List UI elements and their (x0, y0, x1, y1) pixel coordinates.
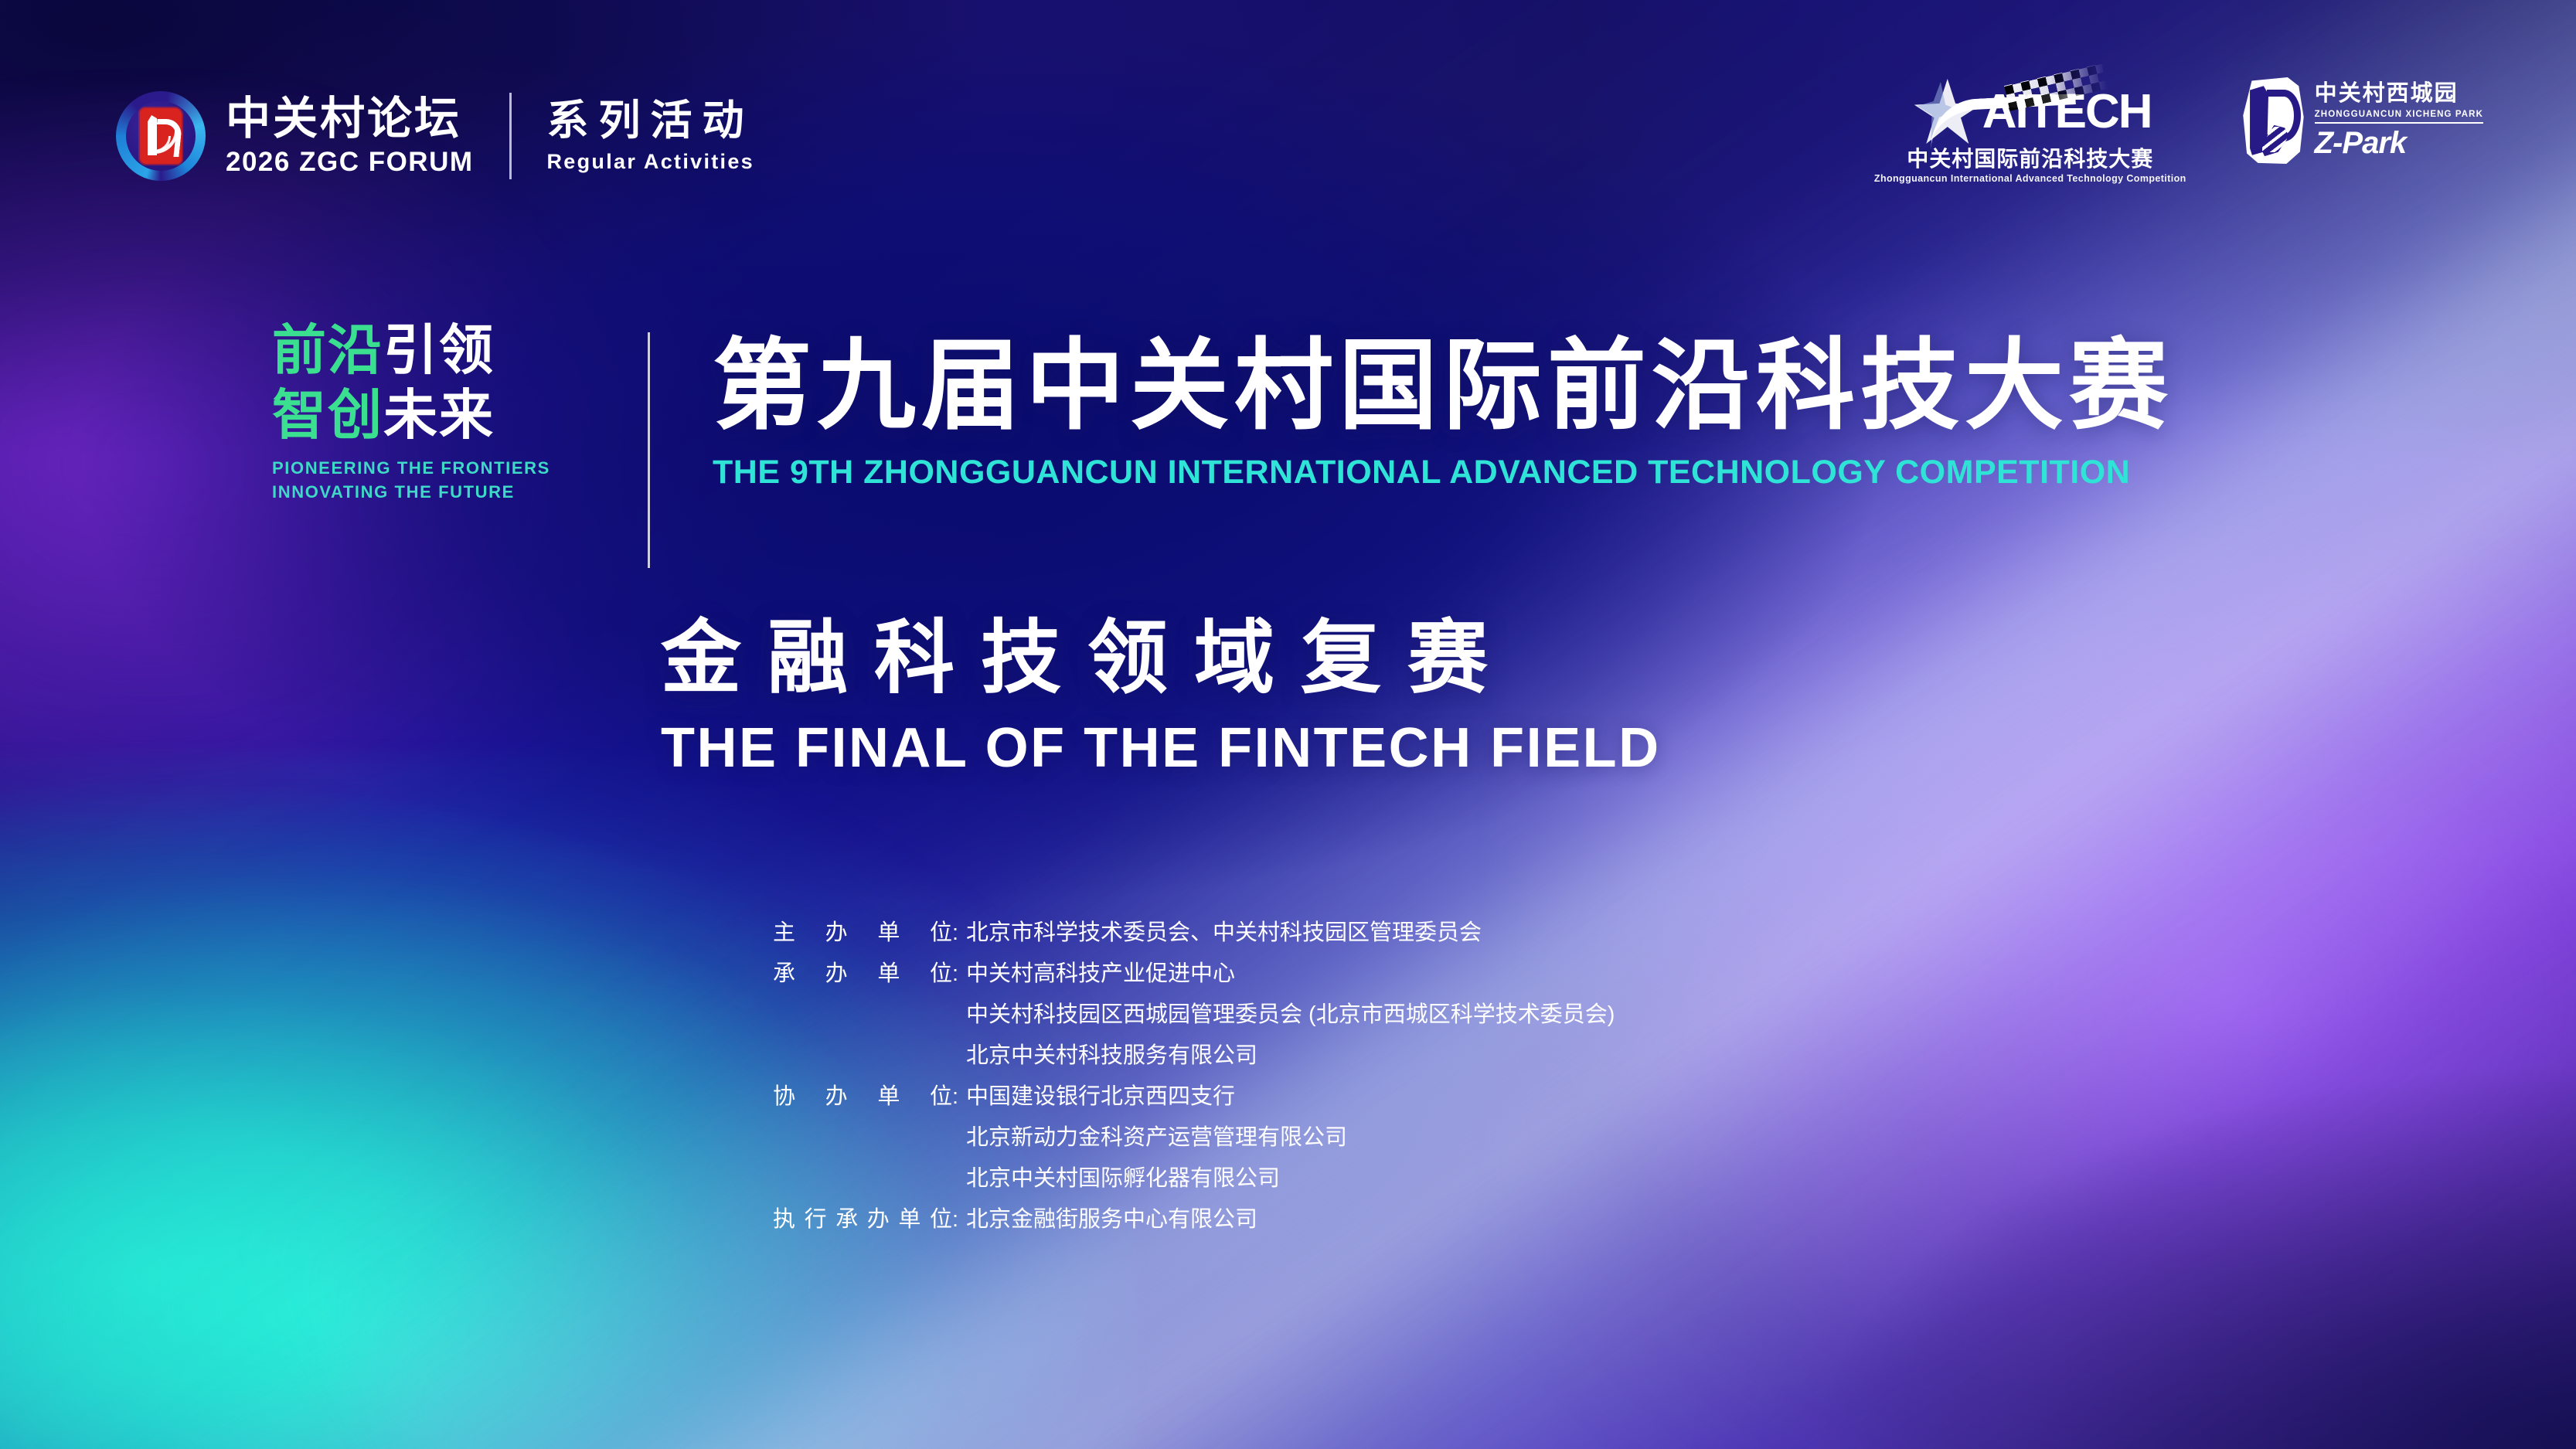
organizer-row: 执行承办单位:中关村科技园区西城园管理委员会 (北京市西城区科学技术委员会) (773, 998, 1615, 1031)
aitech-name-cn: 中关村国际前沿科技大赛 (1907, 148, 2153, 170)
slogan-line1-part1: 前沿 (272, 320, 383, 380)
zgc-forum-name-cn: 中关村论坛 (226, 97, 474, 141)
organizer-row: 承办单位:中关村高科技产业促进中心 (773, 957, 1615, 990)
zgc-forum-name-en: 2026 ZGC FORUM (226, 148, 474, 175)
slogan-en-line-2: INNOVATING THE FUTURE (272, 480, 550, 504)
slogan-line-1: 前沿引领 (272, 323, 550, 377)
organizer-value: 中关村科技园区西城园管理委员会 (北京市西城区科学技术委员会) (966, 998, 1615, 1031)
slogan-block: 前沿引领 智创未来 PIONEERING THE FRONTIERS INNOV… (272, 323, 550, 504)
organizer-row: 协办单位:中国建设银行北京西四支行 (773, 1080, 1615, 1113)
header-lockup: 中关村论坛 2026 ZGC FORUM 系列活动 Regular Activi… (116, 91, 754, 181)
slogan-en-line-1: PIONEERING THE FRONTIERS (272, 456, 550, 480)
organizer-row: 执行承办单位:北京新动力金科资产运营管理有限公司 (773, 1121, 1615, 1154)
series-wordmark: 系列活动 Regular Activities (547, 100, 754, 172)
organizer-colon: : (952, 1080, 966, 1113)
aitech-logo: AITECH 中关村国际前沿科技大赛 Zhongguancun Internat… (1874, 77, 2186, 184)
header-divider (509, 93, 512, 179)
organizer-colon: : (952, 917, 966, 949)
organizer-value: 北京中关村国际孵化器有限公司 (966, 1162, 1280, 1195)
zpark-name-en: ZHONGGUANCUN XICHENG PARK (2315, 111, 2483, 120)
zpark-divider (2315, 122, 2483, 124)
slogan-line-2: 智创未来 (272, 388, 550, 442)
organizer-label: 承办单位 (773, 957, 952, 990)
slogan-english: PIONEERING THE FRONTIERS INNOVATING THE … (272, 456, 550, 504)
main-title-block: 第九届中关村国际前沿科技大赛 THE 9TH ZHONGGUANCUN INTE… (713, 337, 2173, 489)
zpark-logo: 中关村西城园 ZHONGGUANCUN XICHENG PARK Z-Park (2242, 77, 2483, 164)
series-name-cn: 系列活动 (547, 100, 754, 141)
organizer-colon: : (952, 957, 966, 990)
subtitle-cn: 金融科技领域复赛 (661, 618, 1661, 699)
partner-logo-group: AITECH 中关村国际前沿科技大赛 Zhongguancun Internat… (1874, 77, 2483, 184)
organizer-row: 执行承办单位:北京中关村科技服务有限公司 (773, 1039, 1615, 1072)
aitech-mark-icon: AITECH (1914, 77, 2146, 144)
zpark-stone-icon (2242, 77, 2304, 164)
organizer-value: 北京中关村科技服务有限公司 (966, 1039, 1257, 1072)
organizer-value: 中关村高科技产业促进中心 (966, 957, 1235, 990)
zpark-wordmark: 中关村西城园 ZHONGGUANCUN XICHENG PARK Z-Park (2315, 83, 2483, 159)
main-title-cn: 第九届中关村国际前沿科技大赛 (713, 337, 2173, 436)
slogan-line2-part1: 智创 (272, 385, 383, 445)
main-title-en: THE 9TH ZHONGGUANCUN INTERNATIONAL ADVAN… (713, 456, 2173, 489)
organizer-value: 北京新动力金科资产运营管理有限公司 (966, 1121, 1347, 1154)
slogan-line1-part2: 引领 (383, 320, 495, 380)
organizer-label: 主办单位 (773, 917, 952, 949)
zgc-forum-wordmark: 中关村论坛 2026 ZGC FORUM (226, 97, 474, 175)
poster-canvas: 中关村论坛 2026 ZGC FORUM 系列活动 Regular Activi… (0, 0, 2576, 1449)
subtitle-en: THE FINAL OF THE FINTECH FIELD (661, 720, 1661, 776)
slogan-line2-part2: 未来 (383, 385, 495, 445)
organizer-value: 北京金融街服务中心有限公司 (966, 1203, 1257, 1236)
series-name-en: Regular Activities (547, 151, 754, 172)
aitech-name-en: Zhongguancun International Advanced Tech… (1874, 174, 2186, 184)
zgc-seal-emblem-icon (116, 91, 206, 181)
organizer-label: 协办单位 (773, 1080, 952, 1113)
organizer-value: 中国建设银行北京西四支行 (966, 1080, 1235, 1113)
organizer-colon: : (952, 1203, 966, 1236)
organizer-row: 主办单位:北京市科学技术委员会、中关村科技园区管理委员会 (773, 917, 1615, 949)
organizer-value: 北京市科学技术委员会、中关村科技园区管理委员会 (966, 917, 1482, 949)
organizer-row: 执行承办单位:北京中关村国际孵化器有限公司 (773, 1162, 1615, 1195)
organizers-block: 主办单位:北京市科学技术委员会、中关村科技园区管理委员会承办单位:中关村高科技产… (773, 917, 1615, 1244)
subtitle-block: 金融科技领域复赛 THE FINAL OF THE FINTECH FIELD (661, 618, 1661, 776)
zpark-name-cn: 中关村西城园 (2315, 83, 2483, 105)
organizer-label: 执行承办单位 (773, 1203, 952, 1236)
organizer-row: 执行承办单位:北京金融街服务中心有限公司 (773, 1203, 1615, 1236)
title-vertical-divider (648, 332, 650, 568)
zpark-brand: Z-Park (2315, 128, 2483, 158)
